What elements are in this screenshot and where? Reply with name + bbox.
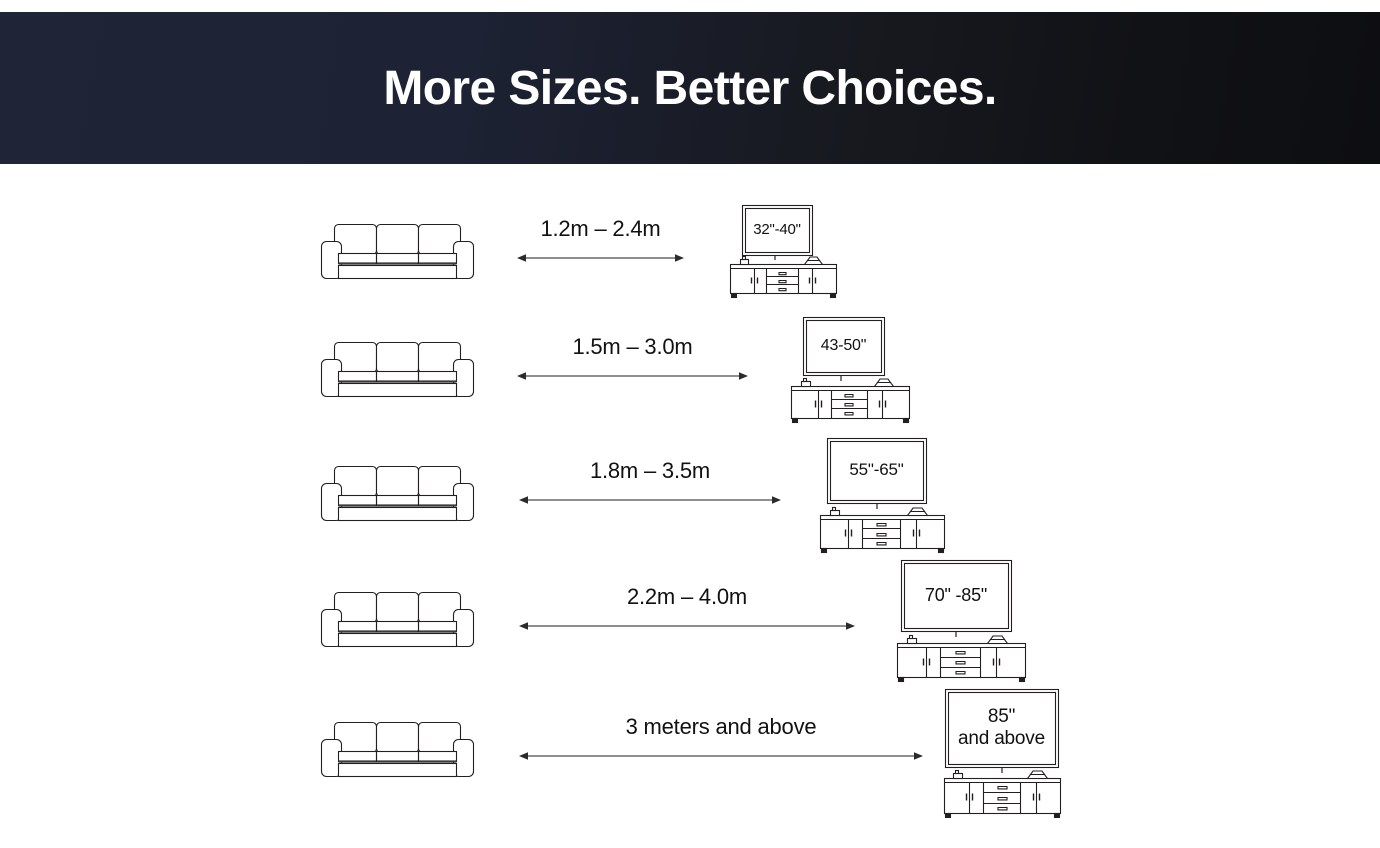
- viewing-distance-label: 1.5m – 3.0m: [517, 334, 748, 360]
- three-seat-sofa-icon: [320, 220, 476, 284]
- three-seat-sofa-icon: [320, 718, 476, 782]
- header-banner: More Sizes. Better Choices.: [0, 12, 1380, 164]
- tv-and-console-icon: 43-50": [789, 316, 913, 424]
- viewing-distance-dimension: 1.5m – 3.0m: [517, 334, 748, 382]
- double-arrow-icon: [519, 750, 923, 762]
- page-title: More Sizes. Better Choices.: [0, 12, 1380, 164]
- viewing-distance-label: 1.8m – 3.5m: [519, 458, 781, 484]
- tv-size-label: 70" -85": [904, 563, 1008, 628]
- size-guide-row: 1.5m – 3.0m: [0, 322, 1380, 437]
- tv-size-label: 32"-40": [745, 208, 809, 252]
- viewing-distance-label: 2.2m – 4.0m: [519, 584, 855, 610]
- viewing-distance-dimension: 3 meters and above: [519, 714, 923, 762]
- double-arrow-icon: [519, 494, 781, 506]
- tv-and-console-icon: 85" and above: [940, 688, 1064, 818]
- double-arrow-icon: [517, 370, 748, 382]
- double-arrow-icon: [517, 252, 684, 264]
- viewing-distance-label: 1.2m – 2.4m: [517, 216, 684, 242]
- viewing-distance-dimension: 1.8m – 3.5m: [519, 458, 781, 506]
- tv-size-label: 55"-65": [830, 441, 923, 500]
- size-guide-row: 3 meters and above: [0, 694, 1380, 834]
- tv-size-label: 85" and above: [948, 692, 1055, 764]
- size-guide-row: 2.2m – 4.0m: [0, 566, 1380, 696]
- viewing-distance-label: 3 meters and above: [519, 714, 923, 740]
- viewing-distance-dimension: 2.2m – 4.0m: [519, 584, 855, 632]
- three-seat-sofa-icon: [320, 338, 476, 402]
- tv-and-console-icon: 32"-40": [728, 204, 840, 300]
- tv-size-label: 43-50": [806, 320, 881, 372]
- size-guide-row: 1.2m – 2.4m: [0, 204, 1380, 314]
- tv-and-console-icon: 55"-65": [818, 437, 948, 554]
- three-seat-sofa-icon: [320, 588, 476, 652]
- size-guide-rows: 1.2m – 2.4m: [0, 164, 1380, 848]
- three-seat-sofa-icon: [320, 462, 476, 526]
- size-guide-row: 1.8m – 3.5m: [0, 442, 1380, 567]
- double-arrow-icon: [519, 620, 855, 632]
- tv-and-console-icon: 70" -85": [895, 559, 1029, 683]
- viewing-distance-dimension: 1.2m – 2.4m: [517, 216, 684, 264]
